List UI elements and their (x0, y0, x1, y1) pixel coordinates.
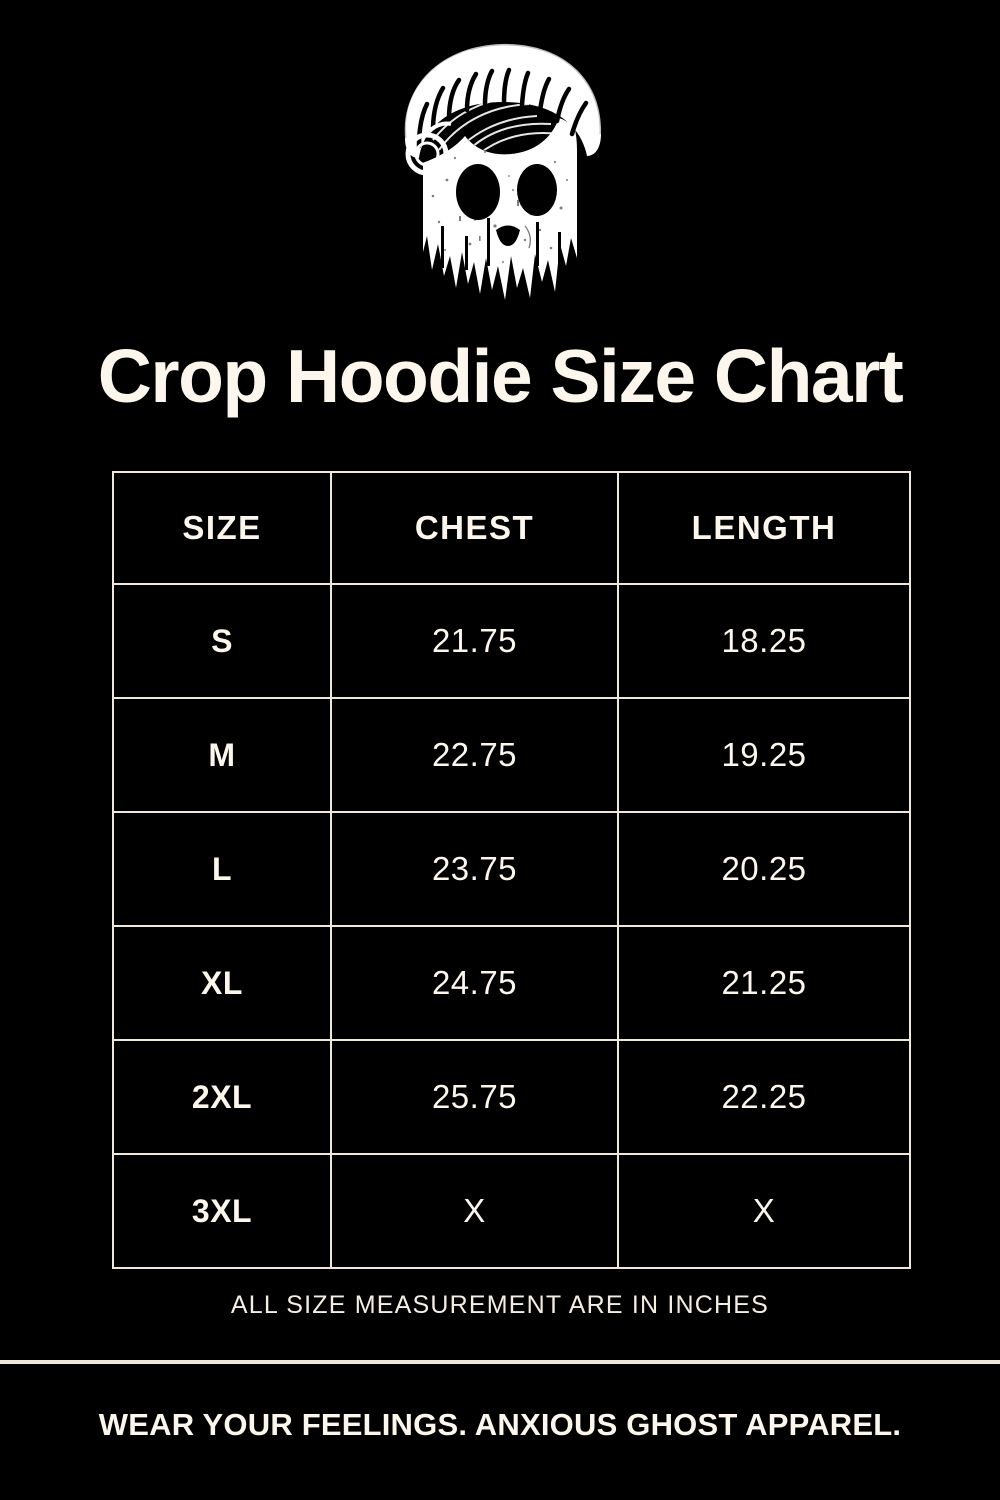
table-row: 3XL X X (113, 1154, 910, 1268)
column-header-length: LENGTH (618, 472, 910, 584)
table-row: XL 24.75 21.25 (113, 926, 910, 1040)
cell-chest: 21.75 (331, 584, 618, 698)
size-chart-table: SIZE CHEST LENGTH S 21.75 18.25 M 22.75 … (112, 471, 911, 1269)
cell-chest: 22.75 (331, 698, 618, 812)
cell-size: 2XL (113, 1040, 331, 1154)
cell-size: 3XL (113, 1154, 331, 1268)
anxious-ghost-beanie-icon (375, 30, 625, 320)
cell-size: L (113, 812, 331, 926)
table-row: 2XL 25.75 22.25 (113, 1040, 910, 1154)
cell-length: 22.25 (618, 1040, 910, 1154)
brand-logo (0, 30, 1000, 320)
table-row: S 21.75 18.25 (113, 584, 910, 698)
cell-chest: X (331, 1154, 618, 1268)
cell-length: 20.25 (618, 812, 910, 926)
measurement-units-note: ALL SIZE MEASUREMENT ARE IN INCHES (0, 1291, 1000, 1320)
column-header-size: SIZE (113, 472, 331, 584)
cell-length: 18.25 (618, 584, 910, 698)
cell-length: X (618, 1154, 910, 1268)
page-title: Crop Hoodie Size Chart (0, 336, 1000, 416)
cell-chest: 23.75 (331, 812, 618, 926)
column-header-chest: CHEST (331, 472, 618, 584)
table-header-row: SIZE CHEST LENGTH (113, 472, 910, 584)
cell-length: 19.25 (618, 698, 910, 812)
cell-size: S (113, 584, 331, 698)
table-row: M 22.75 19.25 (113, 698, 910, 812)
cell-length: 21.25 (618, 926, 910, 1040)
footer-divider (0, 1360, 1000, 1364)
cell-size: XL (113, 926, 331, 1040)
cell-chest: 24.75 (331, 926, 618, 1040)
size-chart-table-wrapper: SIZE CHEST LENGTH S 21.75 18.25 M 22.75 … (112, 471, 909, 1256)
table-row: L 23.75 20.25 (113, 812, 910, 926)
size-chart-poster: Crop Hoodie Size Chart SIZE CHEST LENGTH… (0, 0, 1000, 1500)
cell-chest: 25.75 (331, 1040, 618, 1154)
brand-tagline-banner: WEAR YOUR FEELINGS. ANXIOUS GHOST APPARE… (0, 1407, 1000, 1443)
cell-size: M (113, 698, 331, 812)
